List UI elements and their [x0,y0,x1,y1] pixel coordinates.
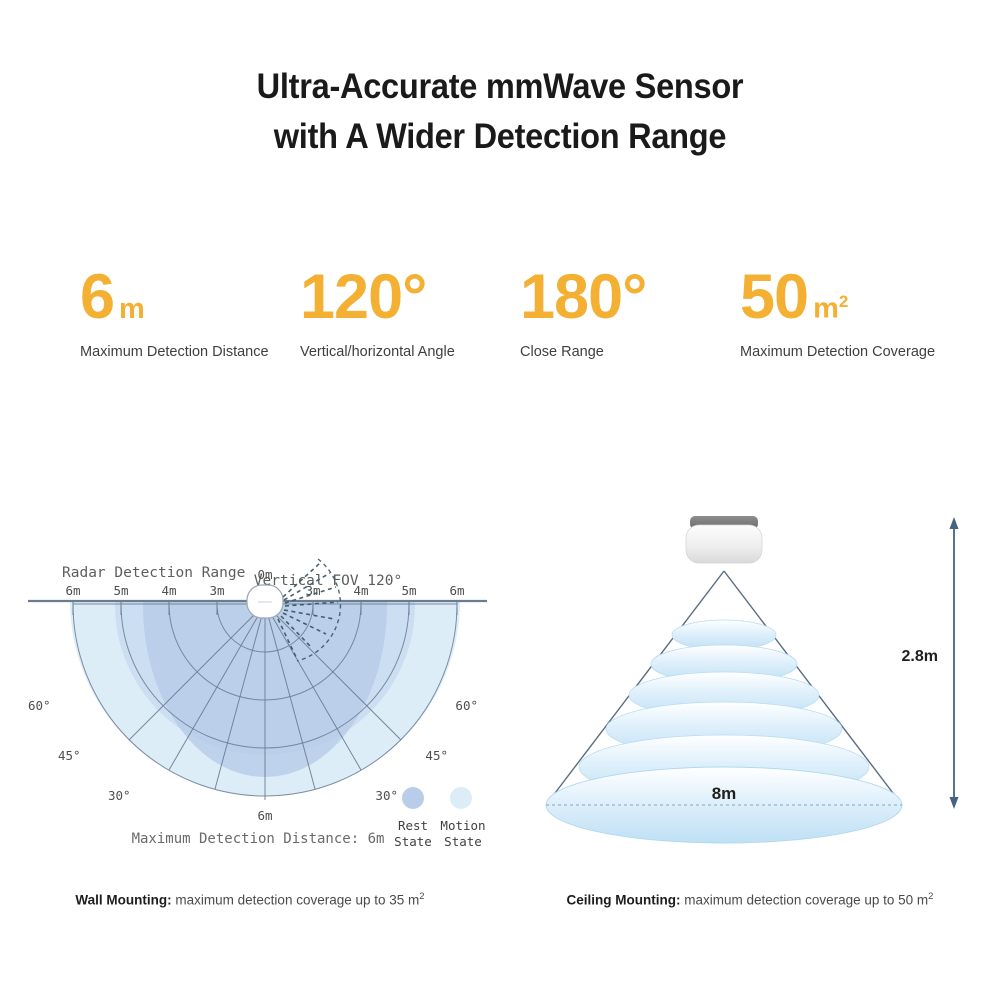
wall-diagram-heading: Radar Detection Range [62,565,245,581]
diameter-label: 8m [712,784,737,803]
detection-field [70,505,460,800]
stat-close-range: 180 ° Close Range [520,268,740,363]
detection-ellipse-stack [546,620,902,843]
center-tick-label: 0m [257,567,272,582]
legend-label-rest-line2: State [394,834,432,849]
stat-number: 50 [740,268,808,328]
stat-label: Maximum Detection Distance [80,342,282,363]
caption-wall-mounting: Wall Mounting: maximum detection coverag… [0,890,500,910]
stat-max-detection-coverage: 50 m2 Maximum Detection Coverage [740,268,960,363]
caption-text: maximum detection coverage up to 50 m [681,893,929,908]
angle-label: 30° [108,788,131,803]
caption-superscript: 2 [928,891,933,902]
stat-number: 6 [80,268,114,328]
stat-label: Vertical/horizontal Angle [300,342,502,363]
vertical-fov-label: Vertical FOV 120° [254,573,402,589]
stat-value-group: 120 ° [300,268,502,328]
stat-value-group: 6 m [80,268,282,328]
captions-row: Wall Mounting: maximum detection coverag… [0,890,1000,910]
infographic-page: Ultra-Accurate mmWave Sensor with A Wide… [0,0,1000,1000]
diagrams-row: Radar Detection Range Vertical FOV 120° [0,505,1000,905]
caption-label: Ceiling Mounting: [567,893,681,908]
legend-label-motion-line1: Motion [440,818,485,833]
stat-vertical-horizontal-angle: 120 ° Vertical/horizontal Angle [300,268,520,363]
height-label: 2.8m [902,648,938,665]
stat-label: Close Range [520,342,722,363]
stat-number: 120 [300,268,402,328]
legend-swatch-rest-state [402,787,424,809]
stats-row: 6 m Maximum Detection Distance 120 ° Ver… [80,268,960,363]
stat-number: 180 [520,268,622,328]
stat-unit: ° [622,268,646,328]
angle-label: 45° [425,748,448,763]
angle-label: 60° [455,698,478,713]
ceiling-sensor-device [686,516,762,563]
center-distance-label: 6m [257,808,272,823]
wall-mounting-diagram: Radar Detection Range Vertical FOV 120° [0,505,510,905]
tick-label: 5m [113,583,128,598]
legend-label-rest-line1: Rest [398,818,428,833]
tick-label: 3m [209,583,224,598]
wall-diagram-footer: Maximum Detection Distance: 6m [132,831,385,847]
page-title: Ultra-Accurate mmWave Sensor with A Wide… [35,62,965,161]
legend-swatch-motion-state [450,787,472,809]
angle-label: 45° [58,748,81,763]
tick-label: 4m [353,583,368,598]
height-measure-arrow [950,517,959,809]
title-line-2: with A Wider Detection Range [35,112,965,162]
title-line-1: Ultra-Accurate mmWave Sensor [35,62,965,112]
legend: Rest State Motion State [394,787,485,849]
tick-label: 4m [161,583,176,598]
tick-label: 6m [449,583,464,598]
stat-max-detection-distance: 6 m Maximum Detection Distance [80,268,300,363]
legend-label-motion-line2: State [444,834,482,849]
ceiling-mounting-diagram: 8m 2.8m [510,505,1000,905]
caption-text: maximum detection coverage up to 35 m [172,893,420,908]
stat-label: Maximum Detection Coverage [740,342,942,363]
tick-labels-left: 6m 5m 4m 3m [65,583,224,598]
caption-label: Wall Mounting: [75,893,171,908]
caption-superscript: 2 [419,891,424,902]
stat-unit: ° [402,268,426,328]
angle-label: 30° [375,788,398,803]
caption-ceiling-mounting: Ceiling Mounting: maximum detection cove… [500,890,1000,910]
stat-value-group: 180 ° [520,268,722,328]
stat-value-group: 50 m2 [740,268,942,328]
tick-label: 5m [401,583,416,598]
stat-unit: m2 [813,294,848,323]
tick-label: 6m [65,583,80,598]
stat-unit-superscript: 2 [839,292,848,311]
angle-label: 60° [28,698,51,713]
stat-unit: m [119,296,145,324]
